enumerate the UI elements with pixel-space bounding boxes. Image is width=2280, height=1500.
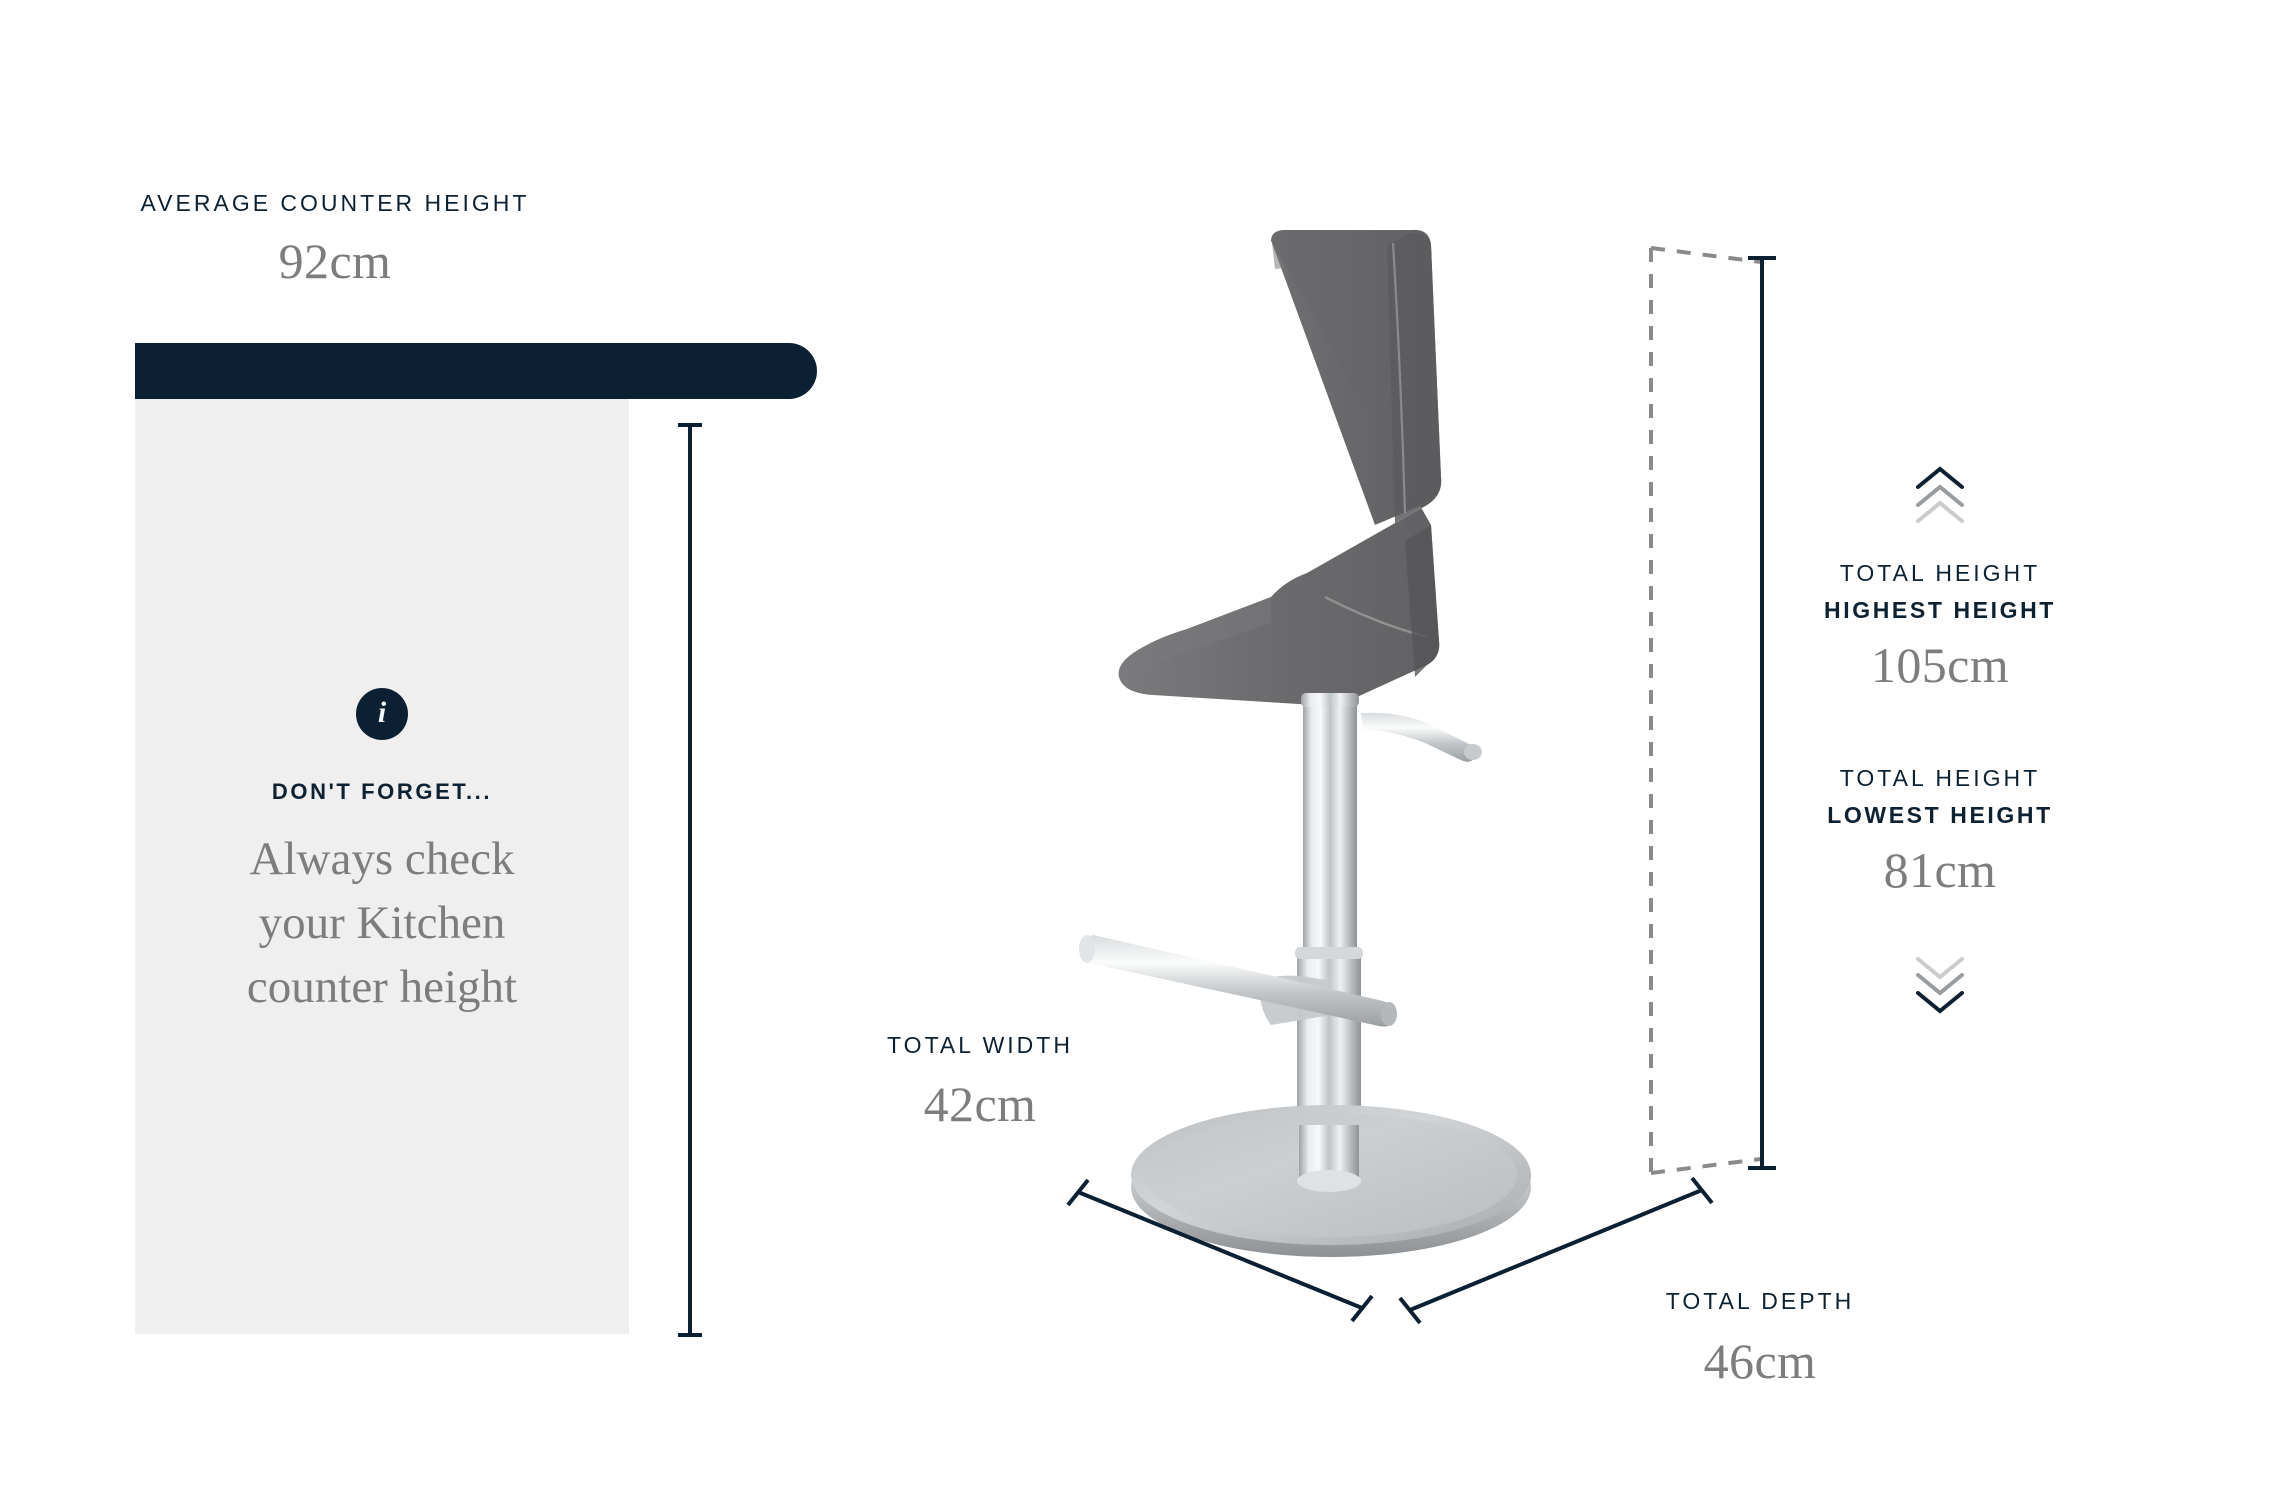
info-letter-i: i — [378, 698, 386, 730]
dimension-diagram: AVERAGE COUNTER HEIGHT 92cm i DON'T FORG… — [0, 0, 2280, 1500]
highest-height-label: TOTAL HEIGHT — [1680, 560, 2200, 587]
dont-forget-kicker: DON'T FORGET... — [135, 779, 629, 805]
total-height-dimension-line — [1745, 240, 1779, 1185]
total-depth-label: TOTAL DEPTH — [1560, 1288, 1960, 1315]
highest-height-sublabel: HIGHEST HEIGHT — [1680, 597, 2200, 624]
lowest-height-label: TOTAL HEIGHT — [1680, 765, 2200, 792]
highest-height-block: TOTAL HEIGHT HIGHEST HEIGHT 105cm — [1680, 560, 2200, 694]
counter-height-label: AVERAGE COUNTER HEIGHT — [135, 190, 535, 217]
lowest-height-block: TOTAL HEIGHT LOWEST HEIGHT 81cm — [1680, 765, 2200, 899]
dont-forget-body: Always check your Kitchen counter height — [135, 827, 629, 1019]
dont-forget-card: i DON'T FORGET... Always check your Kitc… — [135, 399, 629, 1334]
dont-forget-line-1: Always check — [135, 827, 629, 891]
dont-forget-line-2: your Kitchen — [135, 891, 629, 955]
lowest-height-sublabel: LOWEST HEIGHT — [1680, 802, 2200, 829]
lowest-height-value: 81cm — [1680, 841, 2200, 899]
width-dimension-line — [1078, 1192, 1362, 1308]
total-width-label: TOTAL WIDTH — [780, 1032, 1180, 1059]
chevron-up-triple-icon — [1910, 465, 1970, 525]
dont-forget-line-3: counter height — [135, 955, 629, 1019]
info-circle-icon: i — [356, 688, 408, 740]
counter-top-bar — [135, 343, 817, 399]
chevron-down-triple-icon — [1910, 955, 1970, 1015]
total-depth-value: 46cm — [1560, 1332, 1960, 1390]
total-width-value: 42cm — [780, 1075, 1180, 1133]
counter-height-value: 92cm — [135, 232, 535, 290]
highest-height-value: 105cm — [1680, 636, 2200, 694]
counter-height-dimension-line — [676, 420, 704, 1340]
stool-height-lever — [1361, 713, 1476, 762]
